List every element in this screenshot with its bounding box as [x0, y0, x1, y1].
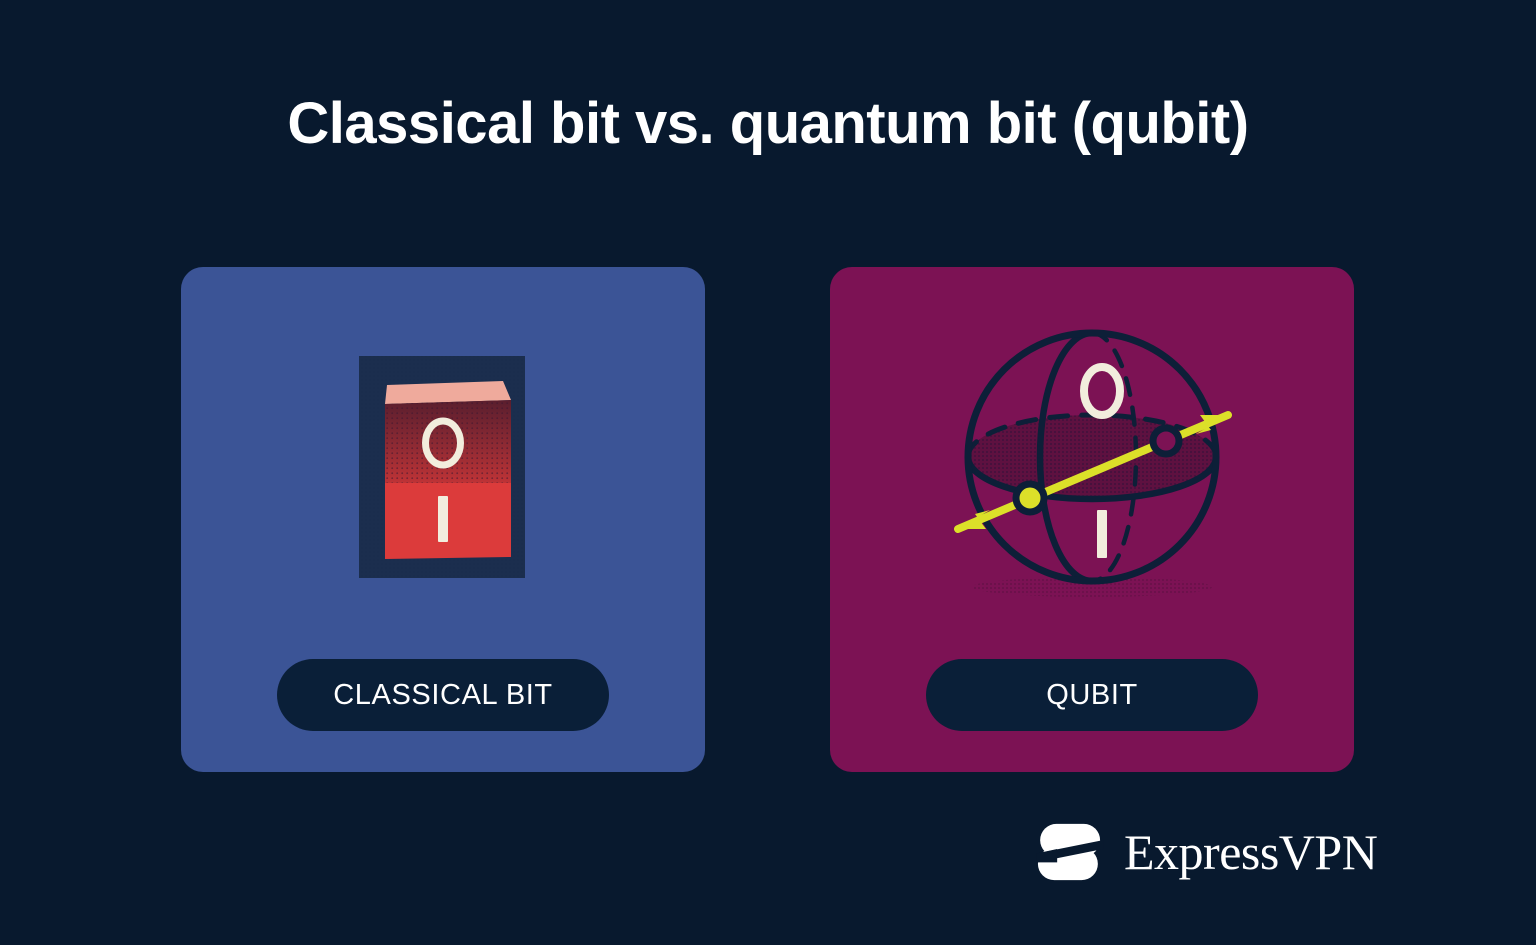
page-title: Classical bit vs. quantum bit (qubit) [0, 92, 1536, 156]
rocker-switch-icon [181, 267, 705, 647]
switch-on-symbol [438, 496, 448, 542]
card-qubit: QUBIT [830, 267, 1354, 772]
classical-bit-illustration [181, 267, 705, 647]
switch-top-bevel [385, 381, 511, 404]
qubit-illustration [830, 267, 1354, 647]
brand-wordmark: ExpressVPN [1124, 827, 1377, 877]
state-marker-filled [1016, 484, 1044, 512]
expressvpn-e-mark-icon [1032, 815, 1106, 889]
classical-bit-label-pill: CLASSICAL BIT [277, 659, 609, 731]
qubit-pole-top-symbol [1084, 367, 1120, 415]
qubit-label-pill: QUBIT [926, 659, 1258, 731]
switch-upper-face [385, 400, 511, 483]
qubit-pole-bottom-symbol [1097, 510, 1107, 558]
card-classical-bit: CLASSICAL BIT [181, 267, 705, 772]
bloch-sphere-icon [830, 267, 1354, 647]
brand-logo: ExpressVPN [1032, 815, 1377, 889]
state-marker-hollow [1153, 428, 1179, 454]
qubit-label-text: QUBIT [1046, 679, 1138, 712]
classical-bit-label-text: CLASSICAL BIT [333, 679, 552, 712]
